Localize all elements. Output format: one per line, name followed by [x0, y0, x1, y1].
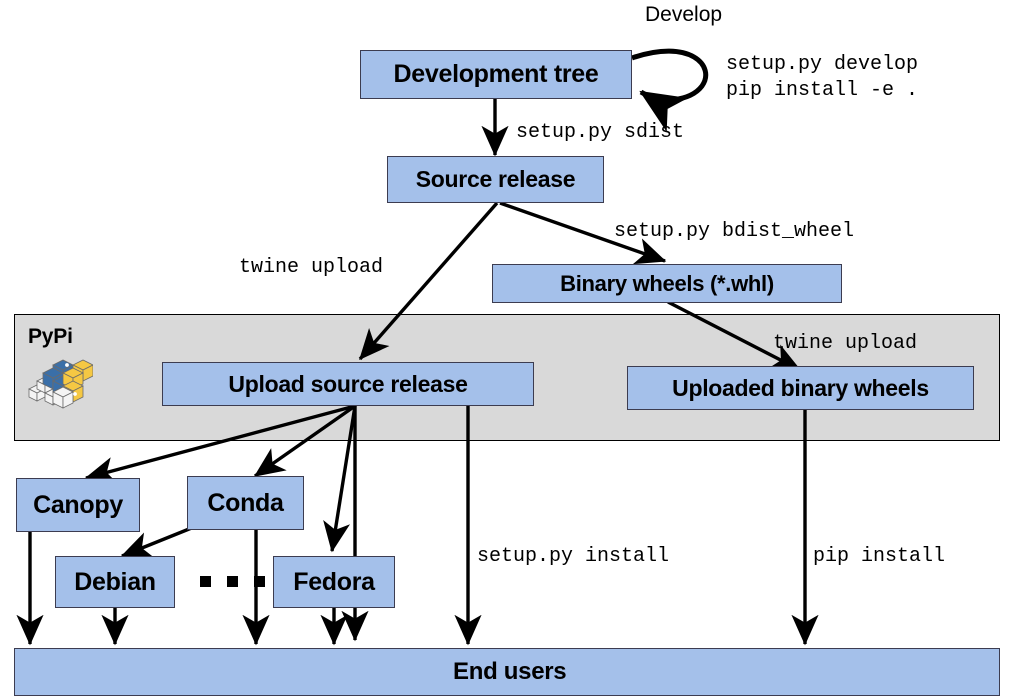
- more-distros-ellipsis-icon: [200, 576, 265, 587]
- node-upload-source-release[interactable]: Upload source release: [162, 362, 534, 406]
- edge-upload-to-canopy: [86, 406, 355, 478]
- node-end-users[interactable]: End users: [14, 648, 1000, 696]
- edge-label-sdist: setup.py sdist: [516, 120, 684, 146]
- edge-label-twine-upload-wheels: twine upload: [773, 331, 917, 357]
- node-fedora[interactable]: Fedora: [273, 556, 395, 608]
- node-debian[interactable]: Debian: [55, 556, 175, 608]
- edge-develop-loop: [632, 51, 706, 100]
- diagram-canvas: PyPi: [0, 0, 1009, 698]
- edge-label-twine-upload-source: twine upload: [239, 255, 383, 281]
- edge-label-develop-commands: setup.py develop pip install -e .: [726, 52, 918, 103]
- node-uploaded-binary-wheels[interactable]: Uploaded binary wheels: [627, 366, 974, 410]
- edge-upload-to-fedora: [332, 406, 355, 551]
- edge-upload-to-conda: [255, 406, 355, 476]
- edge-label-pip-install: pip install: [813, 544, 945, 570]
- edge-label-setup-py-install: setup.py install: [477, 544, 669, 570]
- node-binary-wheels[interactable]: Binary wheels (*.whl): [492, 264, 842, 303]
- edge-sdist-to-upload: [360, 203, 497, 359]
- node-conda[interactable]: Conda: [187, 476, 304, 530]
- edge-label-bdist-wheel: setup.py bdist_wheel: [614, 219, 854, 245]
- edge-label-develop: Develop: [645, 3, 722, 27]
- node-canopy[interactable]: Canopy: [16, 478, 140, 532]
- node-source-release[interactable]: Source release: [387, 156, 604, 203]
- node-development-tree[interactable]: Development tree: [360, 50, 632, 99]
